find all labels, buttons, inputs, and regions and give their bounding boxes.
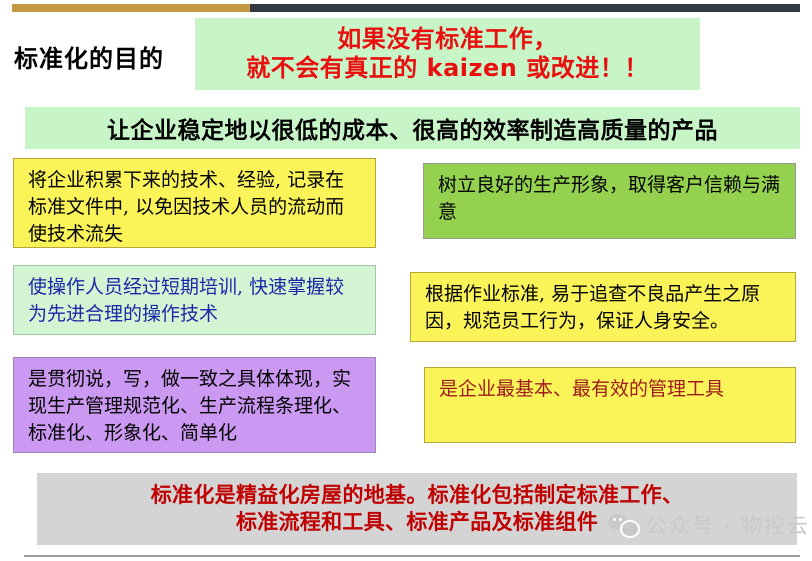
watermark-text: 公众号 · 物控云: [646, 510, 810, 540]
box-customer-trust-text: 树立良好的生产形象，取得客户信赖与满意: [438, 172, 783, 226]
box-defect-traceability: 根据作业标准, 易于追查不良品产生之原因，规范员工行为，保证人身安全。: [410, 272, 796, 342]
headline-line-2: 就不会有真正的 kaizen 或改进！！: [246, 54, 648, 83]
page-title: 标准化的目的: [14, 39, 194, 74]
slide-canvas: 标准化的目的 如果没有标准工作， 就不会有真正的 kaizen 或改进！！ 让企…: [0, 0, 812, 561]
green-banner-text: 让企业稳定地以很低的成本、很高的效率制造高质量的产品: [107, 111, 718, 145]
gray-banner-line-1: 标准化是精益化房屋的地基。标准化包括制定标准工作、: [151, 482, 684, 509]
top-rule-dark: [250, 4, 800, 12]
box-knowledge-retention-text: 将企业积累下来的技术、经验, 记录在标准文件中, 以免因技术人员的流动而使技术流…: [28, 167, 363, 248]
gray-banner-line-2: 标准流程和工具、标准产品及标准组件: [236, 509, 598, 536]
bottom-rule: [24, 555, 800, 557]
box-fast-training-text: 使操作人员经过短期培训, 快速掌握较为先进合理的操作技术: [28, 274, 363, 328]
box-defect-traceability-text: 根据作业标准, 易于追查不良品产生之原因，规范员工行为，保证人身安全。: [425, 281, 783, 335]
wechat-icon: [608, 513, 638, 537]
watermark: 公众号 · 物控云: [608, 510, 810, 540]
box-management-tool-text: 是企业最基本、最有效的管理工具: [439, 376, 783, 403]
box-customer-trust: 树立良好的生产形象，取得客户信赖与满意: [423, 163, 796, 239]
box-management-tool: 是企业最基本、最有效的管理工具: [424, 367, 796, 443]
box-say-write-do: 是贯彻说，写，做一致之具体体现，实现生产管理规范化、生产流程条理化、标准化、形象…: [13, 357, 376, 453]
headline-line-1: 如果没有标准工作，: [337, 25, 558, 54]
top-rule-gold: [12, 4, 250, 12]
green-banner: 让企业稳定地以很低的成本、很高的效率制造高质量的产品: [25, 107, 800, 149]
headline-callout: 如果没有标准工作， 就不会有真正的 kaizen 或改进！！: [195, 18, 700, 90]
box-say-write-do-text: 是贯彻说，写，做一致之具体体现，实现生产管理规范化、生产流程条理化、标准化、形象…: [28, 366, 363, 447]
box-knowledge-retention: 将企业积累下来的技术、经验, 记录在标准文件中, 以免因技术人员的流动而使技术流…: [13, 158, 376, 248]
box-fast-training: 使操作人员经过短期培训, 快速掌握较为先进合理的操作技术: [13, 265, 376, 335]
